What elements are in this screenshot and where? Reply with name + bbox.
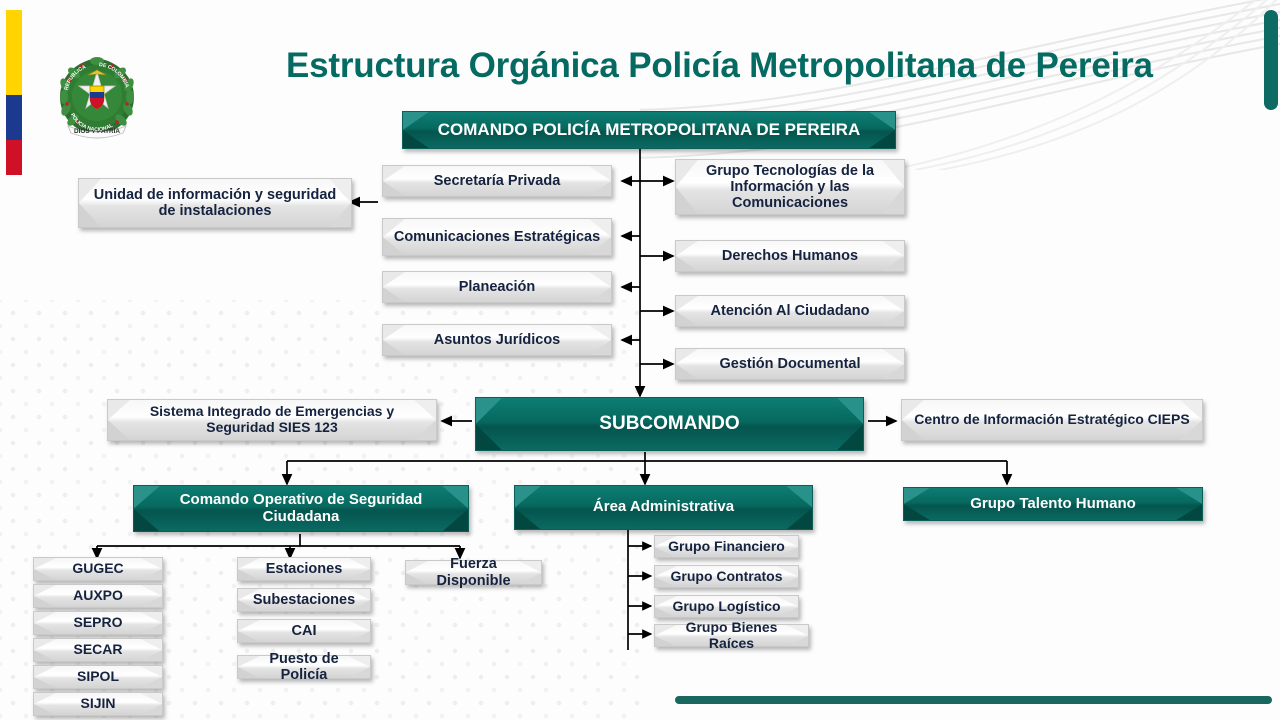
page-title: Estructura Orgánica Policía Metropolitan…	[286, 46, 1246, 86]
flag-stripe-yellow	[6, 10, 22, 95]
org-node-sies-123-label: Sistema Integrado de Emergencias y Segur…	[108, 404, 436, 435]
org-node-sipol-label: SIPOL	[67, 669, 129, 685]
org-node-grupo-bienes-raices-label: Grupo Bienes Raíces	[655, 620, 808, 651]
org-node-gugec[interactable]: GUGEC	[33, 557, 163, 581]
org-node-sipol[interactable]: SIPOL	[33, 665, 163, 689]
org-node-grupo-logistico[interactable]: Grupo Logístico	[654, 595, 799, 618]
org-node-secretaria-privada-label: Secretaría Privada	[424, 173, 571, 189]
org-node-grupo-contratos-label: Grupo Contratos	[661, 569, 793, 585]
org-node-subestaciones[interactable]: Subestaciones	[237, 588, 371, 612]
org-node-puesto-policia[interactable]: Puesto de Policía	[237, 655, 371, 679]
org-node-subcomando[interactable]: SUBCOMANDO	[475, 397, 864, 451]
org-node-planeacion[interactable]: Planeación	[382, 271, 612, 303]
right-accent-bar	[1264, 10, 1278, 110]
org-node-comunicaciones-estrategicas[interactable]: Comunicaciones Estratégicas	[382, 218, 612, 256]
org-node-atencion-ciudadano-label: Atención Al Ciudadano	[701, 303, 880, 319]
org-node-puesto-policia-label: Puesto de Policía	[238, 651, 370, 683]
flag-stripe-red	[6, 140, 22, 175]
org-node-derechos-humanos-label: Derechos Humanos	[712, 248, 868, 264]
org-node-gestion-documental[interactable]: Gestión Documental	[675, 348, 905, 380]
org-node-auxpo[interactable]: AUXPO	[33, 584, 163, 608]
org-node-auxpo-label: AUXPO	[63, 588, 133, 604]
org-node-estaciones-label: Estaciones	[256, 561, 353, 577]
connector-lines	[0, 0, 1280, 720]
org-node-sepro-label: SEPRO	[63, 615, 132, 631]
policia-nacional-logo: DIOS Y PATRIA REPUBLICA DE COLOMBIA POLI…	[52, 52, 142, 142]
org-node-asuntos-juridicos-label: Asuntos Jurídicos	[424, 332, 571, 348]
org-node-unidad-informacion-label: Unidad de información y seguridad de ins…	[79, 187, 351, 219]
org-node-derechos-humanos[interactable]: Derechos Humanos	[675, 240, 905, 272]
org-node-secar-label: SECAR	[63, 642, 132, 658]
org-node-fuerza-disponible[interactable]: Fuerza Disponible	[405, 560, 542, 585]
org-node-area-administrativa[interactable]: Área Administrativa	[514, 485, 813, 530]
org-node-cai-label: CAI	[282, 623, 327, 639]
org-node-grupo-talento-humano-label: Grupo Talento Humano	[962, 496, 1144, 513]
org-node-asuntos-juridicos[interactable]: Asuntos Jurídicos	[382, 324, 612, 356]
org-node-secretaria-privada[interactable]: Secretaría Privada	[382, 165, 612, 197]
org-node-grupo-logistico-label: Grupo Logístico	[662, 599, 790, 615]
org-node-estaciones[interactable]: Estaciones	[237, 557, 371, 581]
org-node-comunicaciones-estrategicas-label: Comunicaciones Estratégicas	[384, 229, 610, 245]
org-node-comando-label: COMANDO POLICÍA METROPOLITANA DE PEREIRA	[430, 120, 869, 139]
org-node-planeacion-label: Planeación	[449, 279, 546, 295]
org-node-gestion-documental-label: Gestión Documental	[710, 356, 871, 372]
org-node-grupo-financiero-label: Grupo Financiero	[658, 539, 795, 555]
org-node-cieps[interactable]: Centro de Información Estratégico CIEPS	[901, 399, 1203, 441]
org-node-comando-operativo[interactable]: Comando Operativo de Seguridad Ciudadana	[133, 485, 469, 532]
org-node-sijin-label: SIJIN	[70, 696, 125, 712]
org-node-comando[interactable]: COMANDO POLICÍA METROPOLITANA DE PEREIRA	[402, 111, 896, 149]
org-node-cai[interactable]: CAI	[237, 619, 371, 643]
org-node-atencion-ciudadano[interactable]: Atención Al Ciudadano	[675, 295, 905, 327]
flag-stripe-blue	[6, 95, 22, 140]
org-node-gugec-label: GUGEC	[62, 561, 133, 577]
org-node-grupo-bienes-raices[interactable]: Grupo Bienes Raíces	[654, 624, 809, 647]
org-node-subcomando-label: SUBCOMANDO	[591, 413, 747, 434]
org-node-sepro[interactable]: SEPRO	[33, 611, 163, 635]
org-node-secar[interactable]: SECAR	[33, 638, 163, 662]
org-node-grupo-financiero[interactable]: Grupo Financiero	[654, 535, 799, 558]
org-node-cieps-label: Centro de Información Estratégico CIEPS	[904, 412, 1199, 428]
org-node-grupo-tecnologias-label: Grupo Tecnologías de la Información y la…	[676, 163, 904, 212]
org-node-sijin[interactable]: SIJIN	[33, 692, 163, 716]
org-node-grupo-tecnologias[interactable]: Grupo Tecnologías de la Información y la…	[675, 159, 905, 215]
org-node-comando-operativo-label: Comando Operativo de Seguridad Ciudadana	[134, 492, 468, 526]
org-node-grupo-contratos[interactable]: Grupo Contratos	[654, 565, 799, 588]
org-node-area-administrativa-label: Área Administrativa	[585, 499, 742, 516]
org-node-unidad-informacion[interactable]: Unidad de información y seguridad de ins…	[78, 178, 352, 228]
org-node-grupo-talento-humano[interactable]: Grupo Talento Humano	[903, 487, 1203, 521]
org-node-subestaciones-label: Subestaciones	[243, 592, 365, 608]
org-node-sies-123[interactable]: Sistema Integrado de Emergencias y Segur…	[107, 399, 437, 441]
colombia-flag-bar	[6, 10, 22, 175]
slide-canvas: DIOS Y PATRIA REPUBLICA DE COLOMBIA POLI…	[0, 0, 1280, 720]
org-node-fuerza-disponible-label: Fuerza Disponible	[406, 556, 541, 588]
bottom-accent-bar	[675, 696, 1272, 704]
